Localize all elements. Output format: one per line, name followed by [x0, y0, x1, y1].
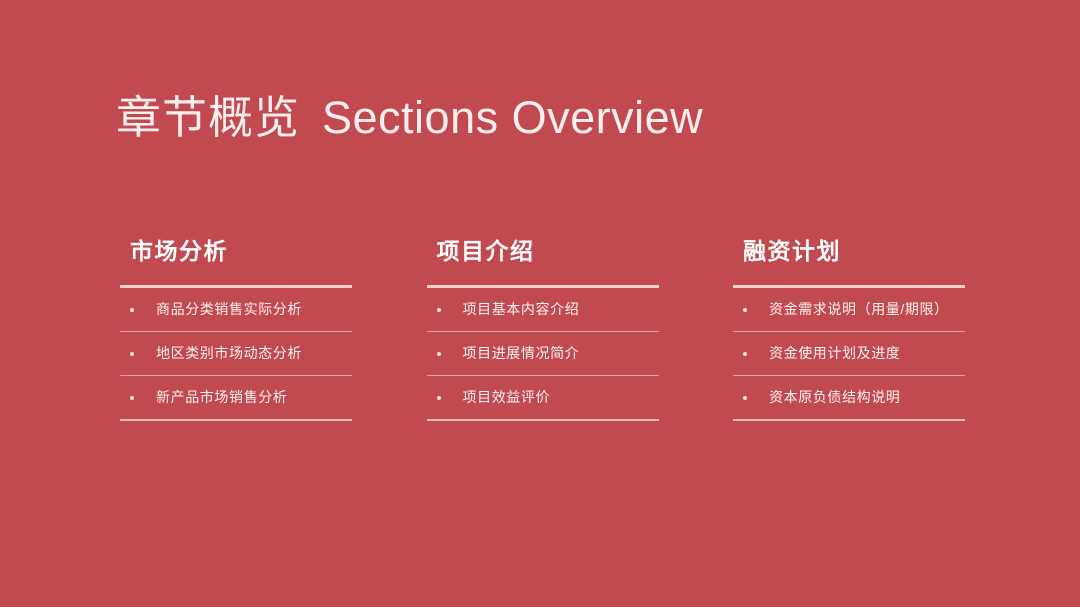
list-item-label: 新产品市场销售分析	[156, 389, 287, 406]
slide-canvas: 章节概览 Sections Overview 市场分析 商品分类销售实际分析 地…	[0, 0, 1080, 607]
list-item-label: 资金需求说明（用量/期限）	[769, 301, 949, 318]
bullet-icon	[743, 308, 747, 312]
bullet-icon	[437, 308, 441, 312]
list-item[interactable]: 资金需求说明（用量/期限）	[733, 288, 965, 331]
section-rule-top	[120, 285, 352, 288]
list-item[interactable]: 项目效益评价	[427, 376, 659, 419]
list-item-label: 商品分类销售实际分析	[156, 301, 302, 318]
list-item[interactable]: 项目基本内容介绍	[427, 288, 659, 331]
section-rule-bottom	[120, 419, 352, 421]
bullet-icon	[743, 352, 747, 356]
list-item-label: 项目效益评价	[463, 389, 551, 406]
section-rule-divider	[733, 375, 965, 376]
section-rule-divider	[733, 331, 965, 332]
list-item-label: 地区类别市场动态分析	[156, 345, 302, 362]
bullet-icon	[437, 352, 441, 356]
section-rule-divider	[427, 331, 659, 332]
section-header: 市场分析	[120, 240, 352, 263]
bullet-icon	[743, 396, 747, 400]
section-column-market-analysis: 市场分析 商品分类销售实际分析 地区类别市场动态分析 新产品市场销售分析	[120, 240, 352, 421]
section-header: 项目介绍	[427, 240, 659, 263]
list-item[interactable]: 商品分类销售实际分析	[120, 288, 352, 331]
page-title-cn: 章节概览	[116, 95, 300, 140]
list-item-label: 项目进展情况简介	[463, 345, 580, 362]
bullet-icon	[130, 308, 134, 312]
page-title-en: Sections Overview	[322, 95, 703, 140]
list-item[interactable]: 资金使用计划及进度	[733, 332, 965, 375]
list-item[interactable]: 项目进展情况简介	[427, 332, 659, 375]
section-column-financing-plan: 融资计划 资金需求说明（用量/期限） 资金使用计划及进度 资本原负债结构说明	[733, 240, 965, 421]
list-item-label: 资本原负债结构说明	[769, 389, 900, 406]
section-rule-bottom	[733, 419, 965, 421]
section-rule-top	[733, 285, 965, 288]
section-header: 融资计划	[733, 240, 965, 263]
page-title: 章节概览 Sections Overview	[116, 95, 703, 140]
section-rule-bottom	[427, 419, 659, 421]
list-item[interactable]: 地区类别市场动态分析	[120, 332, 352, 375]
list-item-label: 资金使用计划及进度	[769, 345, 900, 362]
section-rule-divider	[427, 375, 659, 376]
bullet-icon	[130, 352, 134, 356]
section-rule-top	[427, 285, 659, 288]
bullet-icon	[130, 396, 134, 400]
list-item[interactable]: 资本原负债结构说明	[733, 376, 965, 419]
bullet-icon	[437, 396, 441, 400]
section-rule-divider	[120, 331, 352, 332]
list-item[interactable]: 新产品市场销售分析	[120, 376, 352, 419]
section-rule-divider	[120, 375, 352, 376]
sections-overview-columns: 市场分析 商品分类销售实际分析 地区类别市场动态分析 新产品市场销售分析 项目介…	[120, 240, 965, 421]
section-column-project-introduction: 项目介绍 项目基本内容介绍 项目进展情况简介 项目效益评价	[427, 240, 659, 421]
list-item-label: 项目基本内容介绍	[463, 301, 580, 318]
